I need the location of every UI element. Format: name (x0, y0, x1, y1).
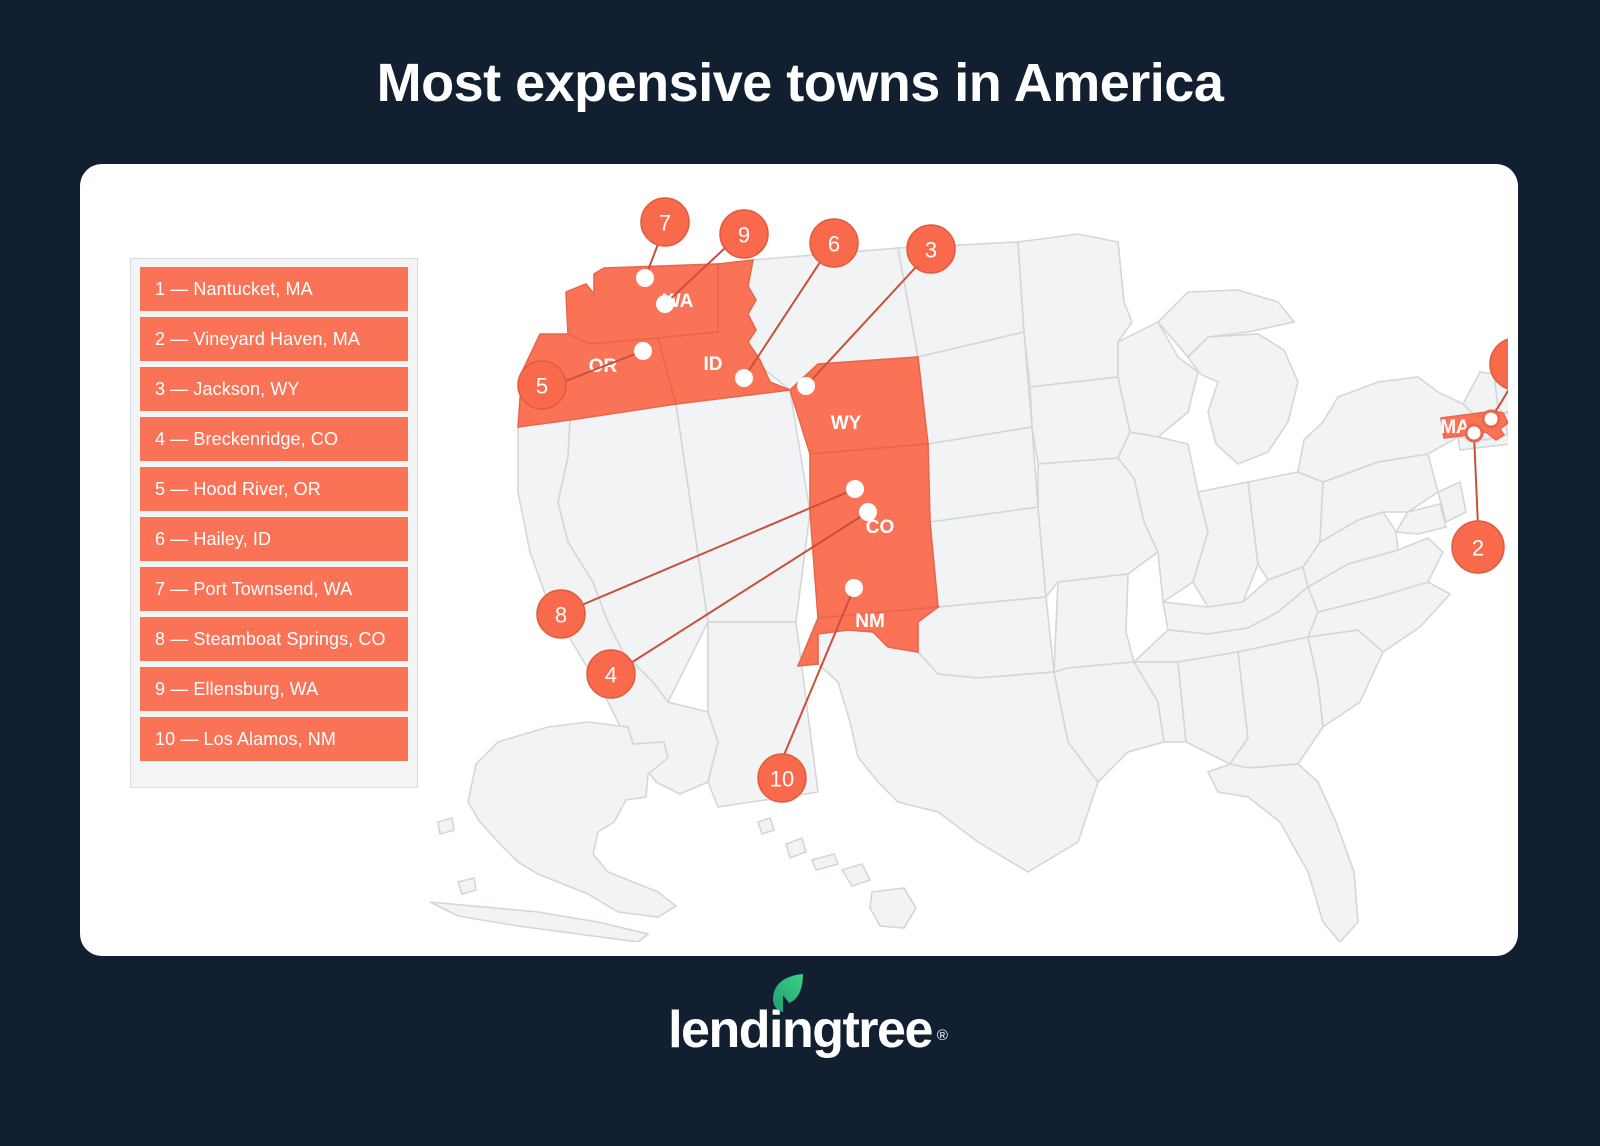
map-badge-label: 6 (828, 232, 840, 257)
map-badge-label: 8 (555, 603, 567, 628)
map-badge-label: 4 (605, 663, 617, 688)
map-badge-4[interactable]: 4 (587, 650, 635, 698)
map-badge-9[interactable]: 9 (720, 210, 768, 258)
list-item[interactable]: 4 — Breckenridge, CO (140, 417, 408, 461)
leaf-icon (771, 973, 805, 1013)
alaska-shape (430, 722, 676, 942)
list-item[interactable]: 10 — Los Alamos, NM (140, 717, 408, 761)
map-badge-label: 7 (659, 211, 671, 236)
map-badge-5[interactable]: 5 (518, 361, 566, 409)
map-badge-8[interactable]: 8 (537, 590, 585, 638)
list-item[interactable]: 1 — Nantucket, MA (140, 267, 408, 311)
map-badge-10[interactable]: 10 (758, 754, 806, 802)
city-dot-breckenridge[interactable] (859, 503, 877, 521)
legend-panel: 1 — Nantucket, MA 2 — Vineyard Haven, MA… (130, 258, 418, 788)
city-dot-vineyard-haven[interactable] (1466, 425, 1482, 441)
legend-item-label: 2 — Vineyard Haven, MA (155, 329, 360, 350)
map-badge-label: 9 (738, 223, 750, 248)
list-item[interactable]: 3 — Jackson, WY (140, 367, 408, 411)
state-label-nm: NM (855, 611, 885, 632)
list-item[interactable]: 8 — Steamboat Springs, CO (140, 617, 408, 661)
map-badge-label: 2 (1472, 536, 1484, 561)
map-badge-label: 5 (536, 374, 548, 399)
list-item[interactable]: 6 — Hailey, ID (140, 517, 408, 561)
state-label-wy: WY (831, 413, 862, 434)
list-item[interactable]: 7 — Port Townsend, WA (140, 567, 408, 611)
legend-item-label: 1 — Nantucket, MA (155, 279, 313, 300)
legend-item-label: 4 — Breckenridge, CO (155, 429, 338, 450)
map-badge-6[interactable]: 6 (810, 219, 858, 267)
city-dot-los-alamos[interactable] (845, 579, 863, 597)
registered-mark: ® (937, 1027, 948, 1044)
legend-item-label: 3 — Jackson, WY (155, 379, 300, 400)
list-item[interactable]: 5 — Hood River, OR (140, 467, 408, 511)
city-dot-ellensburg[interactable] (656, 295, 674, 313)
list-item[interactable]: 9 — Ellensburg, WA (140, 667, 408, 711)
state-label-id: ID (704, 354, 723, 375)
city-dot-hood-river[interactable] (634, 342, 652, 360)
map-badge-7[interactable]: 7 (641, 198, 689, 246)
city-dot-nantucket[interactable] (1483, 411, 1499, 427)
map-badge-label: 3 (925, 238, 937, 263)
state-wy (790, 357, 928, 454)
city-dot-hailey[interactable] (735, 369, 753, 387)
legend-item-label: 8 — Steamboat Springs, CO (155, 629, 386, 650)
legend-item-label: 5 — Hood River, OR (155, 479, 321, 500)
map-badge-3[interactable]: 3 (907, 225, 955, 273)
map-card: 1 — Nantucket, MA 2 — Vineyard Haven, MA… (80, 164, 1518, 956)
city-dot-port-townsend[interactable] (636, 269, 654, 287)
legend-item-label: 6 — Hailey, ID (155, 529, 271, 550)
us-map: WA OR ID WY CO NM MA (418, 182, 1508, 942)
city-dot-jackson[interactable] (797, 377, 815, 395)
footer-logo[interactable]: lendingtree ® (0, 1000, 1600, 1060)
city-dot-steamboat-springs[interactable] (846, 480, 864, 498)
hawaii-shape (758, 818, 916, 928)
legend-item-label: 9 — Ellensburg, WA (155, 679, 318, 700)
legend-item-label: 7 — Port Townsend, WA (155, 579, 352, 600)
map-badge-label: 10 (770, 767, 794, 792)
list-item[interactable]: 2 — Vineyard Haven, MA (140, 317, 408, 361)
page-title: Most expensive towns in America (0, 52, 1600, 114)
legend-item-label: 10 — Los Alamos, NM (155, 729, 336, 750)
map-badge-2[interactable]: 2 (1452, 521, 1504, 573)
